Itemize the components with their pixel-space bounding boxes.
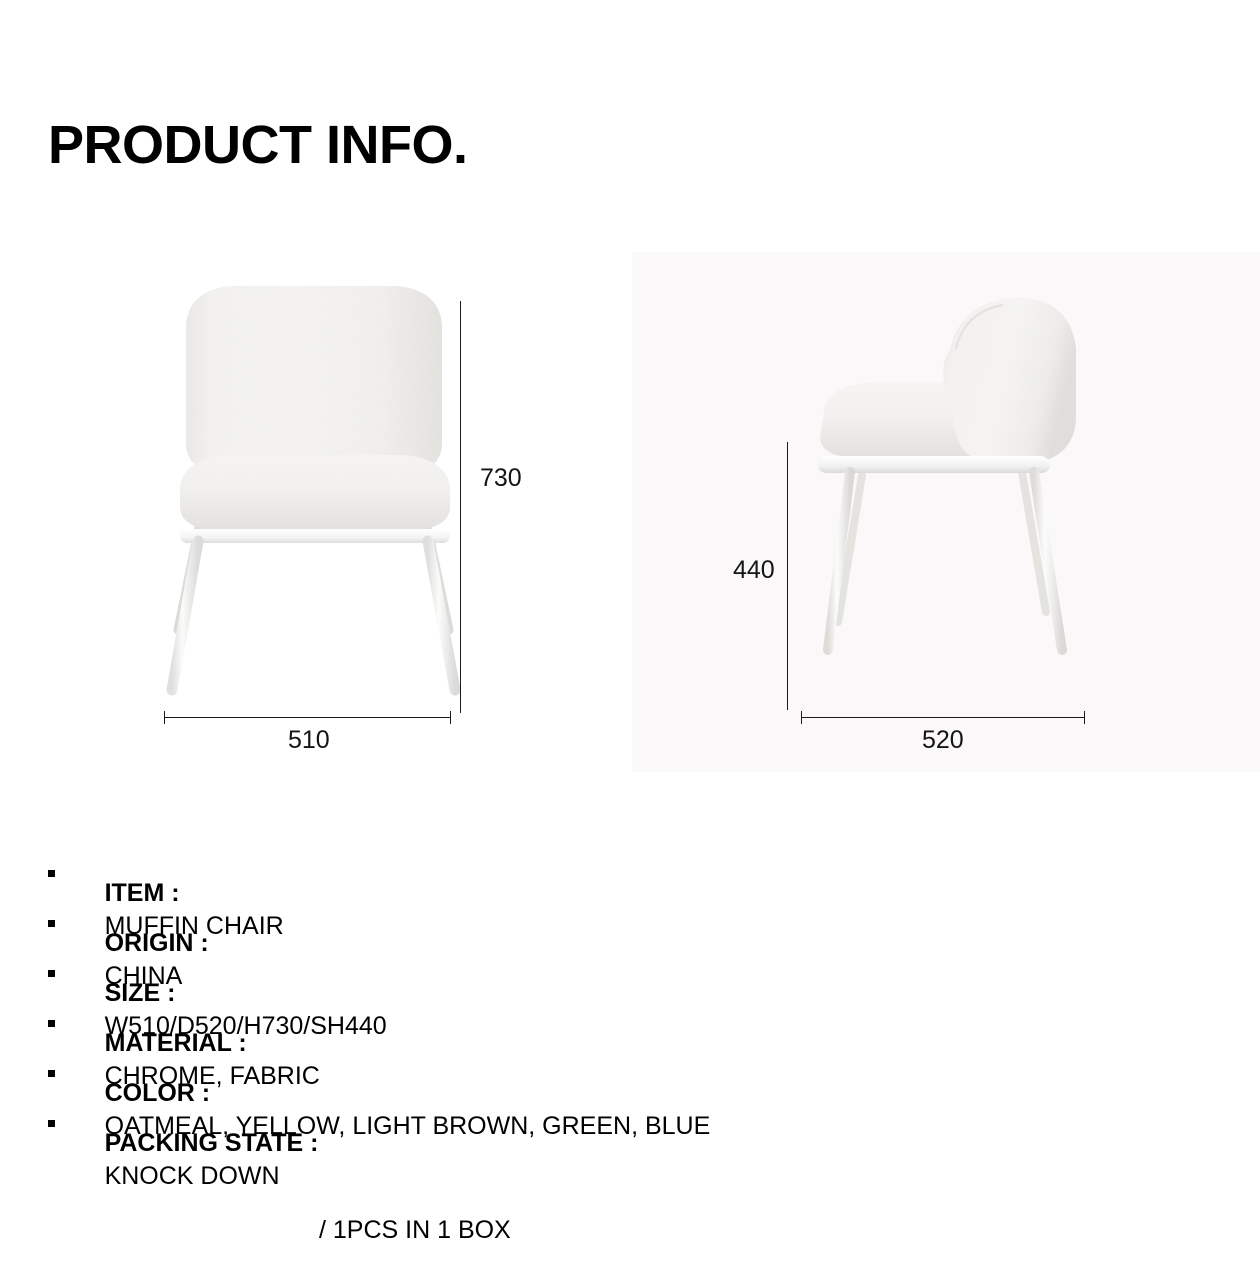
spec-row-origin: ORIGIN : CHINA [48,906,1168,956]
bullet-square-icon [48,920,55,927]
spec-row-size: SIZE : W510/D520/H730/SH440 [48,956,1168,1006]
spec-label-origin: ORIGIN : [105,929,223,957]
side-seat-height-dimension-line [787,443,788,697]
bullet-square-icon [48,1120,55,1127]
spec-label-material: MATERIAL : [105,1029,261,1057]
side-depth-dimension-line [802,717,1085,718]
side-depth-dimension-label: 520 [922,728,964,753]
spec-label-packing-state: PACKING STATE : [105,1129,333,1157]
spec-row-packing-state: PACKING STATE : KNOCK DOWN / 1PCS IN 1 B… [48,1106,1168,1186]
spec-value-packing-state-line2: / 1PCS IN 1 BOX [69,1216,511,1244]
front-width-dimension-label: 510 [288,728,330,753]
bullet-square-icon [48,870,55,877]
spec-row-color: COLOR : OATMEAL, YELLOW, LIGHT BROWN, GR… [48,1056,1168,1106]
side-view-chair [810,290,1100,700]
bullet-square-icon [48,1020,55,1027]
spec-row-item: ITEM : MUFFIN CHAIR [48,856,1168,906]
bullet-square-icon [48,970,55,977]
side-seat-height-dimension-label: 440 [733,558,775,583]
front-height-dimension-line [460,302,461,700]
spec-row-material: MATERIAL : CHROME, FABRIC [48,1006,1168,1056]
spec-label-item: ITEM : [105,879,194,907]
bullet-square-icon [48,1070,55,1077]
product-spec-list: ITEM : MUFFIN CHAIR ORIGIN : CHINA SIZE … [48,856,1168,1186]
front-width-dimension-line [165,717,451,718]
spec-label-color: COLOR : [105,1079,224,1107]
front-height-dimension-label: 730 [480,466,522,491]
front-view-chair [150,275,480,705]
spec-value-packing-state: KNOCK DOWN [105,1162,280,1190]
figure-area: 730 510 [0,0,1260,800]
spec-label-size: SIZE : [105,979,190,1007]
